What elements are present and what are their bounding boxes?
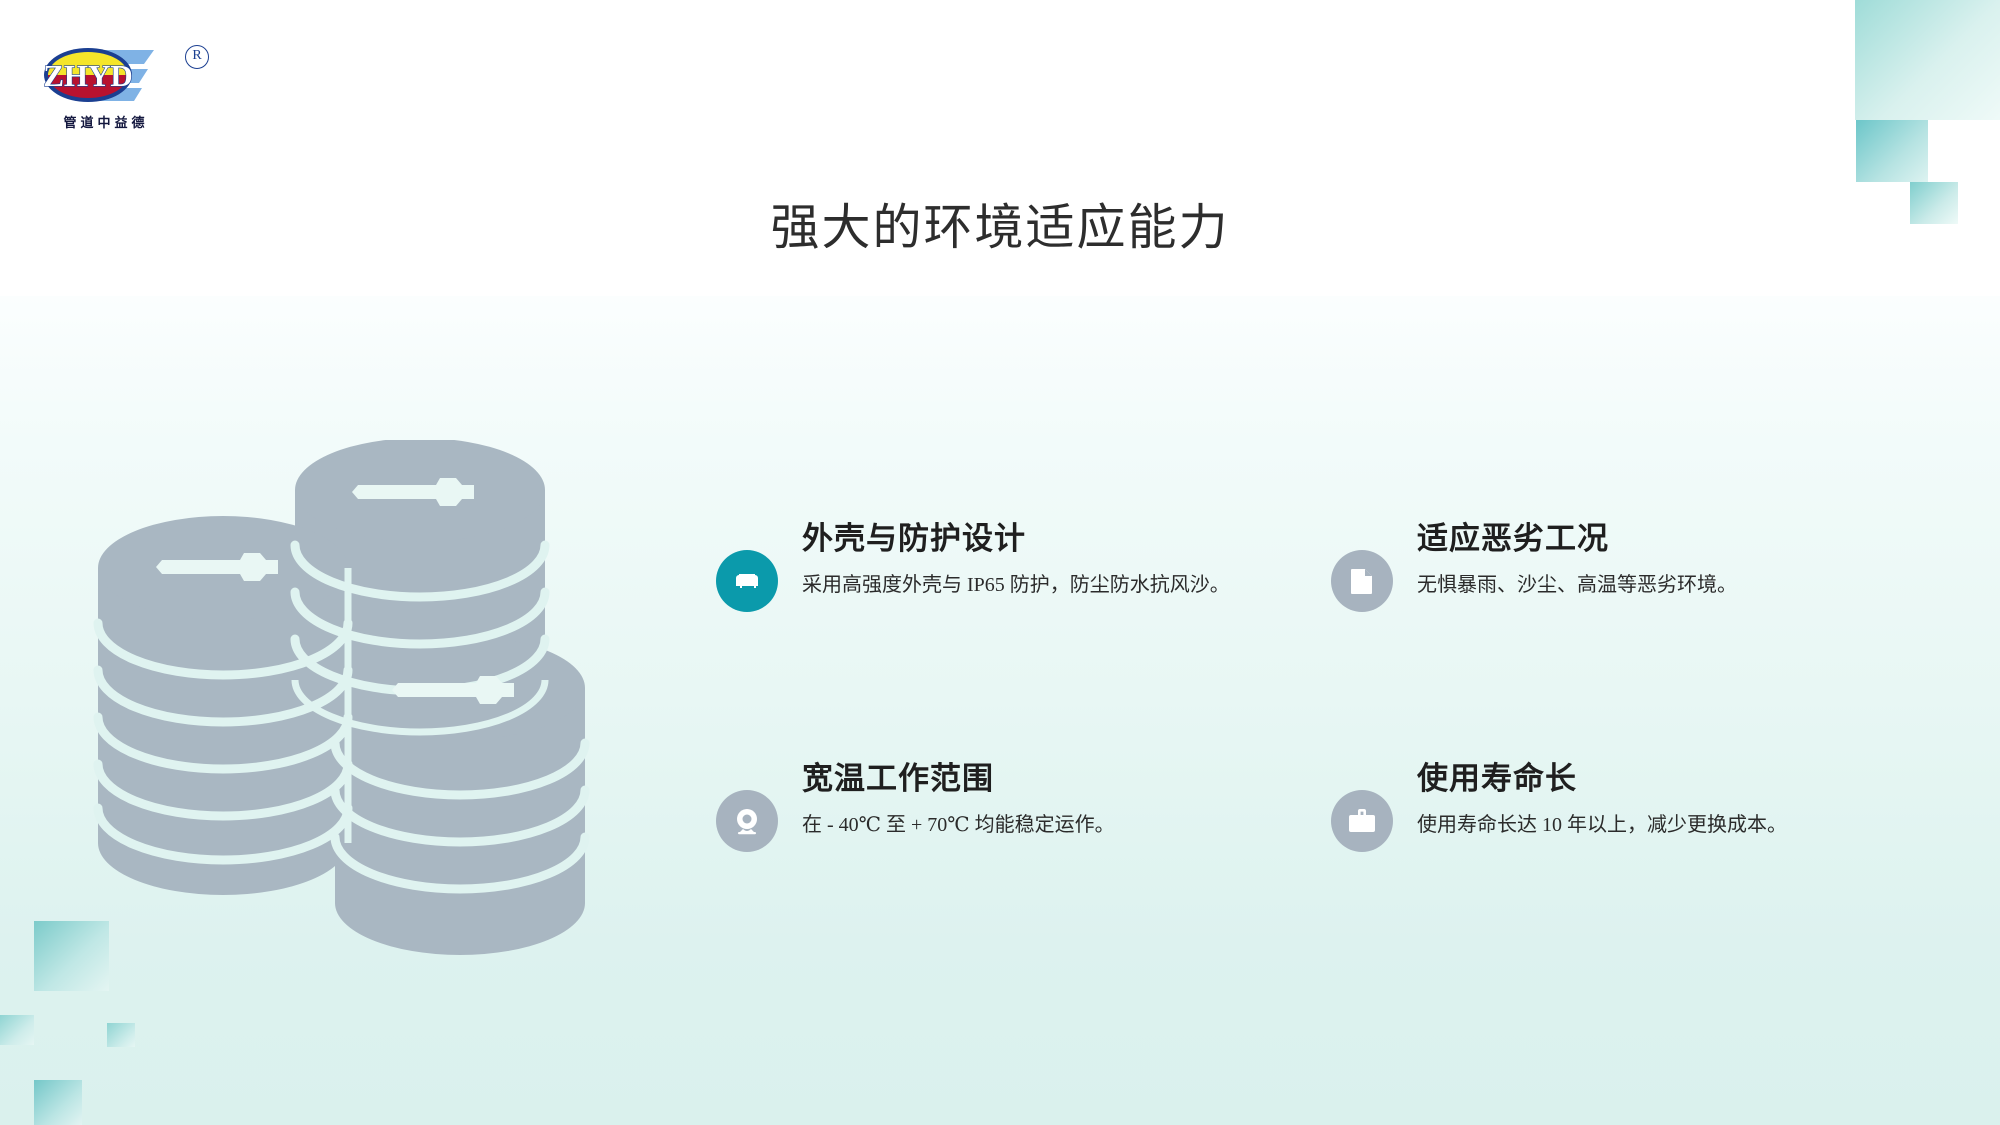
feature-item-temperature-range[interactable]: 宽温工作范围 在 - 40℃ 至 + 70℃ 均能稳定运作。: [716, 760, 1331, 852]
feature-text-temperature-range: 宽温工作范围 在 - 40℃ 至 + 70℃ 均能稳定运作。: [802, 760, 1115, 841]
decorative-square-bottom-left-small: [34, 1080, 82, 1125]
feature-text-service-life: 使用寿命长 使用寿命长达 10 年以上，减少更换成本。: [1417, 760, 1787, 841]
feature-text-harsh-conditions: 适应恶劣工况 无惧暴雨、沙尘、高温等恶劣环境。: [1417, 520, 1737, 601]
feature-title: 外壳与防护设计: [802, 520, 1230, 559]
enclosure-glyph-icon: [732, 566, 762, 596]
logo-subtitle: 管道中益德: [42, 112, 170, 131]
feature-title: 宽温工作范围: [802, 760, 1115, 799]
feature-item-enclosure[interactable]: 外壳与防护设计 采用高强度外壳与 IP65 防护，防尘防水抗风沙。: [716, 520, 1331, 612]
feature-title: 适应恶劣工况: [1417, 520, 1737, 559]
feature-row-2: 宽温工作范围 在 - 40℃ 至 + 70℃ 均能稳定运作。 使用寿命长 使用寿…: [716, 760, 1946, 852]
briefcase-icon: [1331, 790, 1393, 852]
decorative-square-bottom-left-tiny: [107, 1023, 135, 1047]
webcam-icon: [716, 790, 778, 852]
feature-item-harsh-conditions[interactable]: 适应恶劣工况 无惧暴雨、沙尘、高温等恶劣环境。: [1331, 520, 1946, 612]
enclosure-icon: [716, 550, 778, 612]
decorative-square-top-right-medium: [1856, 120, 1928, 182]
feature-grid: 外壳与防护设计 采用高强度外壳与 IP65 防护，防尘防水抗风沙。 适应恶劣工况…: [716, 520, 1946, 852]
document-glyph-icon: [1348, 566, 1376, 596]
document-icon: [1331, 550, 1393, 612]
company-logo: ZHYD R 管道中益德: [38, 38, 218, 138]
decorative-square-top-right-large: [1855, 0, 2000, 120]
feature-description: 使用寿命长达 10 年以上，减少更换成本。: [1417, 809, 1787, 841]
briefcase-glyph-icon: [1347, 807, 1377, 835]
stacked-coins-illustration: [90, 440, 620, 1000]
registered-trademark-icon: R: [185, 45, 209, 69]
slide-canvas: ZHYD R 管道中益德 强大的环境适应能力: [0, 0, 2000, 1125]
feature-description: 采用高强度外壳与 IP65 防护，防尘防水抗风沙。: [802, 569, 1230, 601]
decorative-square-top-right-white: [1928, 120, 2000, 182]
page-title: 强大的环境适应能力: [0, 188, 2000, 259]
svg-text:ZHYD: ZHYD: [43, 58, 133, 93]
feature-description: 在 - 40℃ 至 + 70℃ 均能稳定运作。: [802, 809, 1115, 841]
stacked-coins-icon: [90, 440, 620, 1000]
feature-description: 无惧暴雨、沙尘、高温等恶劣环境。: [1417, 569, 1737, 601]
feature-row-spacer: [716, 612, 1946, 760]
feature-row-1: 外壳与防护设计 采用高强度外壳与 IP65 防护，防尘防水抗风沙。 适应恶劣工况…: [716, 520, 1946, 612]
webcam-glyph-icon: [732, 806, 762, 836]
feature-text-enclosure: 外壳与防护设计 采用高强度外壳与 IP65 防护，防尘防水抗风沙。: [802, 520, 1230, 601]
feature-title: 使用寿命长: [1417, 760, 1787, 799]
feature-item-service-life[interactable]: 使用寿命长 使用寿命长达 10 年以上，减少更换成本。: [1331, 760, 1946, 852]
decorative-square-bottom-left-edge: [0, 1015, 34, 1045]
